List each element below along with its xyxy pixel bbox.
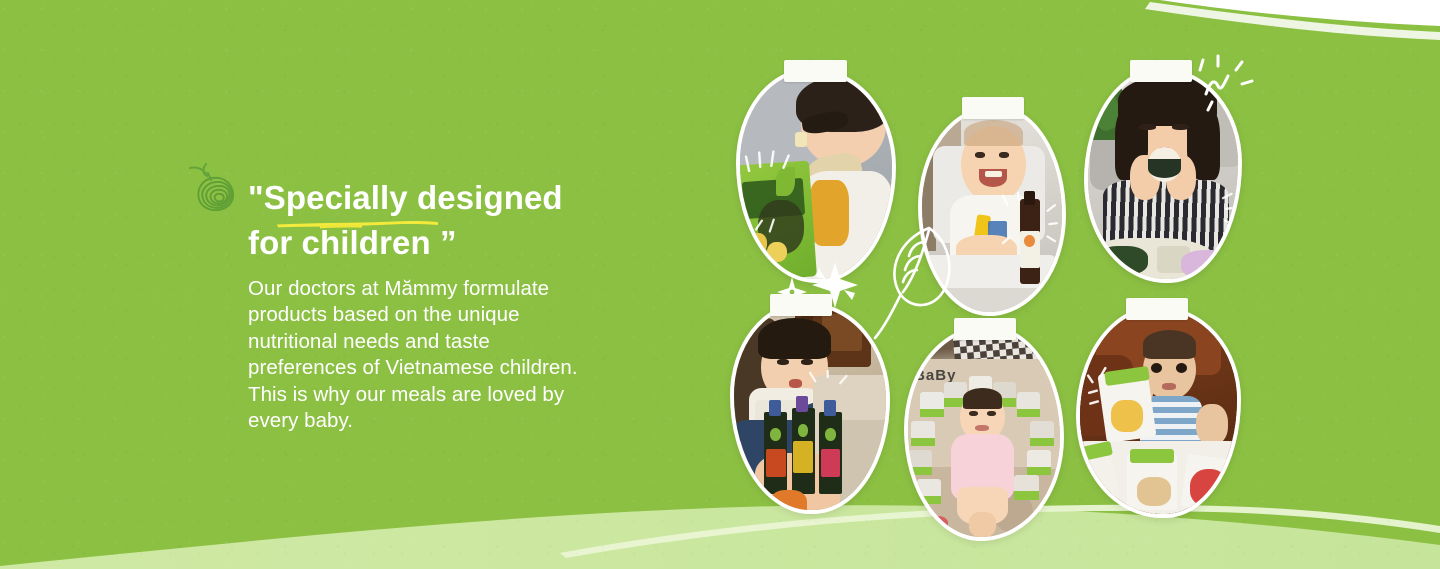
- photo-image: [1088, 72, 1238, 279]
- headline-line-2: for children ”: [248, 220, 628, 265]
- photo-tape: [954, 318, 1016, 340]
- photo-tape: [1130, 60, 1192, 82]
- page-title: "Specially designed for children ”: [248, 175, 628, 265]
- wave-top-right-thin: [1145, 2, 1440, 40]
- photo-image: BaBy: [908, 330, 1060, 537]
- apple-scribble-icon: [186, 158, 242, 218]
- headline-quote-open: ": [248, 179, 264, 216]
- photo-frame: [736, 68, 896, 283]
- photo-frame: [730, 302, 890, 514]
- headline-rest: designed: [408, 179, 563, 216]
- collage-photo-baby-eating-seaweed-snack[interactable]: [736, 68, 896, 283]
- collage-photo-toddler-eating-rice-ball[interactable]: [1084, 68, 1242, 283]
- photo-image: [740, 72, 892, 279]
- collage-photo-baby-surrounded-by-pouches[interactable]: BaBy: [904, 326, 1064, 541]
- photo-image: [734, 306, 886, 510]
- collage-photo-boy-holding-dropper-bottles[interactable]: [730, 302, 890, 514]
- photo-frame: [1084, 68, 1242, 283]
- photo-frame: BaBy: [904, 326, 1064, 541]
- promo-banner: "Specially designed for children ” Our d…: [0, 0, 1440, 569]
- photo-collage: BaBy: [718, 48, 1298, 538]
- wave-top-right: [1160, 0, 1440, 26]
- photo-frame: [1076, 306, 1241, 518]
- headline-emphasis: Specially: [264, 179, 408, 216]
- photo-image: [922, 110, 1062, 312]
- photo-tape: [962, 97, 1024, 119]
- body-paragraph: Our doctors at Mămmy formulate products …: [248, 276, 598, 435]
- collage-photo-toddler-with-snack-pouches[interactable]: [1076, 306, 1241, 518]
- photo-tape: [1126, 298, 1188, 320]
- photo-image: [1080, 310, 1237, 514]
- collage-photo-smiling-baby-with-oil-bottle[interactable]: [918, 106, 1066, 316]
- photo-frame: [918, 106, 1066, 316]
- photo-tape: [770, 294, 832, 316]
- photo-tape: [784, 60, 847, 82]
